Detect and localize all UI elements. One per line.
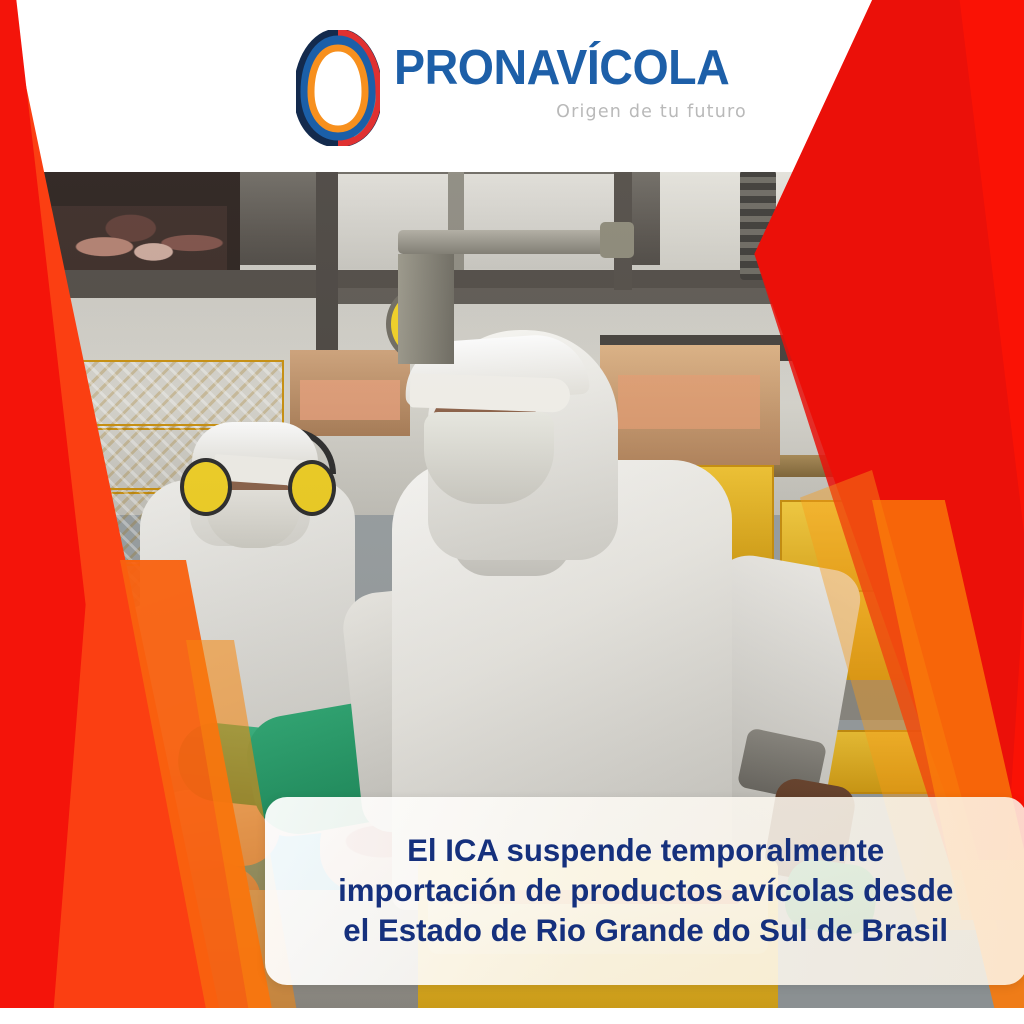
brand-name: PRONAVÍCOLA (394, 44, 729, 93)
headline-text: El ICA suspende temporalmente importació… (330, 831, 961, 950)
bottom-white-strip (0, 1008, 1024, 1024)
brand-logo: PRONAVÍCOLA Origen de tu futuro (296, 30, 696, 148)
headline-panel: El ICA suspende temporalmente importació… (265, 797, 1024, 985)
brand-logo-text: PRONAVÍCOLA Origen de tu futuro (394, 30, 747, 122)
egg-ring-logo-icon (296, 30, 380, 146)
social-post-card: PRONAVÍCOLA Origen de tu futuro El ICA s… (0, 0, 1024, 1024)
headline-line-2: importación de productos avícolas desde (338, 871, 953, 911)
brand-tagline: Origen de tu futuro (394, 102, 747, 122)
headline-line-3: el Estado de Rio Grande do Sul de Brasil (338, 911, 953, 951)
headline-line-1: El ICA suspende temporalmente (338, 831, 953, 871)
